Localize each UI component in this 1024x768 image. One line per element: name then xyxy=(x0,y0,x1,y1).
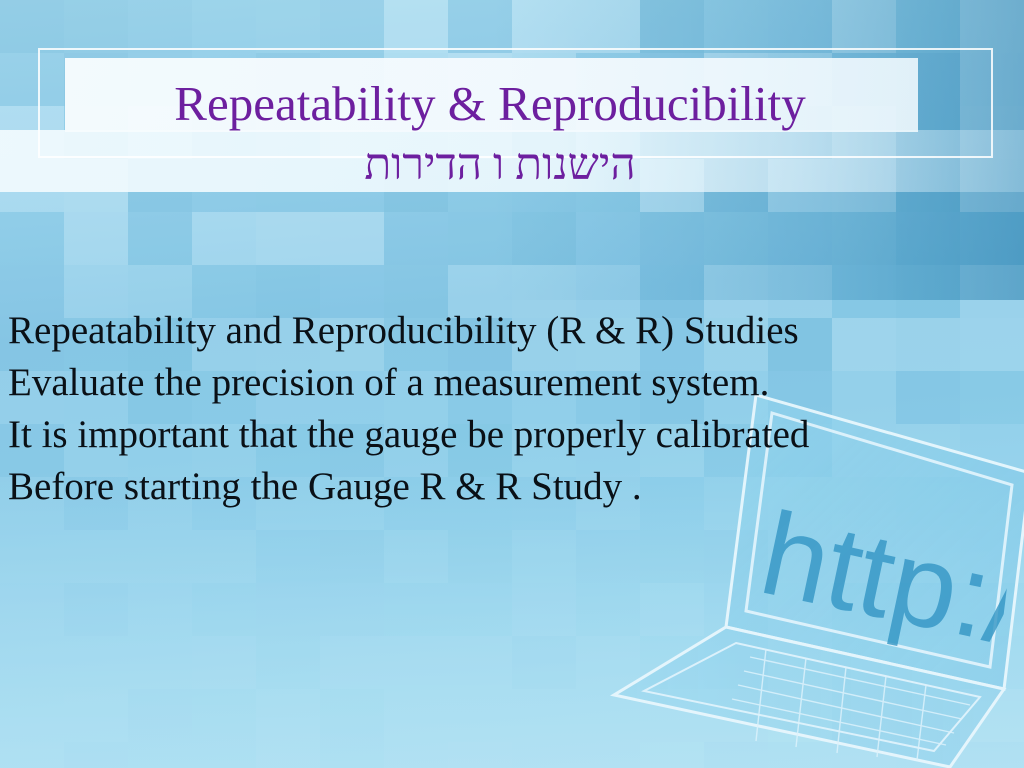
body-line-3: It is important that the gauge be proper… xyxy=(8,409,1008,461)
body-line-1: Repeatability and Reproducibility (R & R… xyxy=(8,305,1008,357)
presentation-slide: http://www Repeatability & Reproducibili… xyxy=(0,0,1024,768)
body-line-2: Evaluate the precision of a measurement … xyxy=(8,357,1008,409)
slide-title-hebrew: הישנות ו הדירות xyxy=(0,142,1000,188)
slide-title-english: Repeatability & Reproducibility xyxy=(0,78,980,129)
body-line-4: Before starting the Gauge R & R Study . xyxy=(8,461,1008,513)
slide-body-text: Repeatability and Reproducibility (R & R… xyxy=(8,305,1008,513)
background-bottom-lightening xyxy=(0,468,1024,768)
